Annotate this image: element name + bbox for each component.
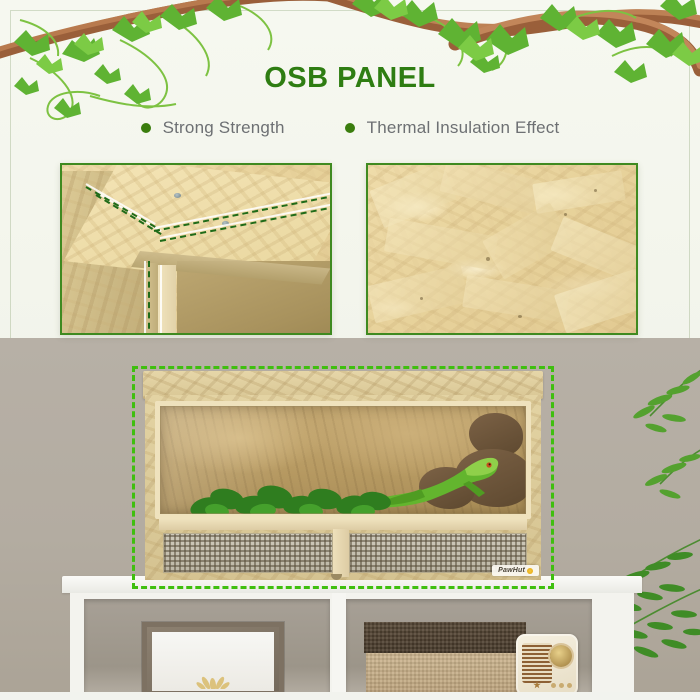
feature-bullet-label: Thermal Insulation Effect [367, 118, 560, 138]
feature-bullet-strong-strength: Strong Strength [141, 118, 285, 138]
osb-texture-photo[interactable] [366, 163, 638, 335]
radio-knob [559, 683, 564, 688]
edge-highlight-dash [148, 261, 150, 335]
radio-knob [567, 683, 572, 688]
radio-knob-row [548, 682, 572, 689]
banner-canvas: PawHut [0, 0, 700, 700]
left-vent-mesh [163, 533, 333, 573]
feature-bullet-thermal-insulation: Thermal Insulation Effect [345, 118, 560, 138]
framed-artwork [142, 622, 284, 696]
woven-storage-box [364, 622, 526, 696]
radio-tuning-dial [550, 645, 572, 667]
reptile-terrarium: PawHut [137, 371, 549, 584]
bullet-dot-icon [141, 123, 151, 133]
vintage-radio [516, 634, 578, 696]
osb-corner-photo[interactable] [60, 163, 332, 335]
brand-sun-icon [527, 568, 533, 574]
brand-badge-label: PawHut [498, 567, 525, 574]
cubby-right [346, 599, 592, 696]
feature-bullet-row: Strong Strength Thermal Insulation Effec… [0, 118, 700, 138]
header-block: OSB PANEL [0, 62, 700, 95]
storage-box-base [366, 653, 524, 696]
artwork-sprig-icon [190, 663, 236, 689]
cubby-left [84, 599, 330, 696]
screw-head-icon [174, 193, 181, 198]
radio-knob [551, 683, 556, 688]
detail-photo-row [0, 163, 700, 338]
brand-badge: PawHut [492, 565, 539, 576]
vent-divider-post [333, 529, 349, 577]
feature-bullet-label: Strong Strength [163, 118, 285, 138]
white-console-shelf [62, 576, 642, 696]
console-body [70, 593, 634, 696]
bullet-dot-icon [345, 123, 355, 133]
floor-baseboard [0, 692, 700, 700]
glass-window-frame [155, 401, 531, 519]
page-title: OSB PANEL [0, 62, 700, 95]
storage-box-lid [364, 622, 526, 653]
console-divider [332, 593, 346, 696]
radio-speaker-grille [522, 643, 552, 683]
